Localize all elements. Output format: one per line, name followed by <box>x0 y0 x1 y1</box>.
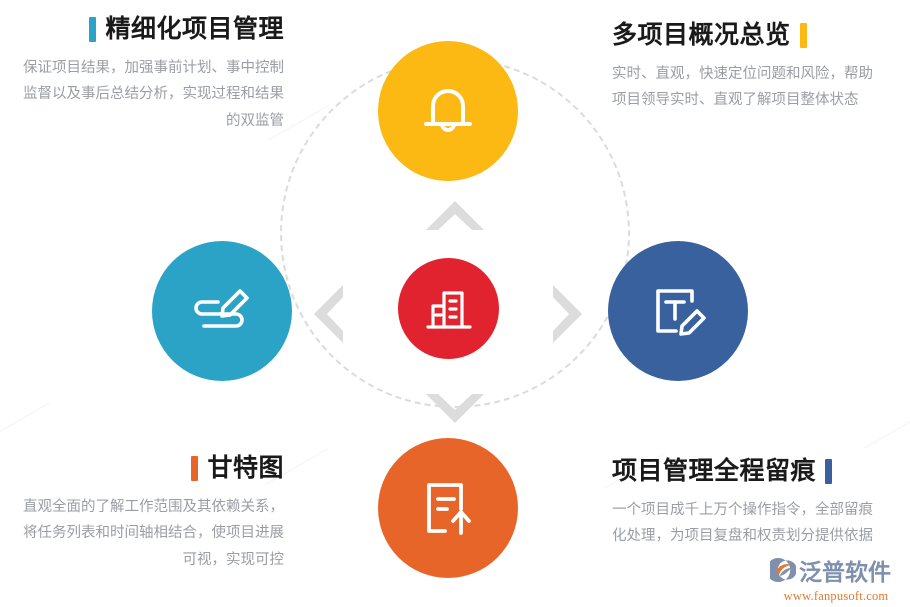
node-left-gantt[interactable] <box>152 241 292 381</box>
chevron-down-icon <box>424 391 486 432</box>
watermark-streak <box>0 403 50 439</box>
node-bottom-report[interactable] <box>378 438 518 578</box>
watermark-url: www.fanpusoft.com <box>770 589 902 604</box>
feature-block-bottom-right: 项目管理全程留痕 一个项目成千上万个操作指令，全部留痕化处理，为项目复盘和权责划… <box>612 458 882 550</box>
feature-description: 保证项目结果，加强事前计划、事中控制监督以及事后总结分析，实现过程和结果的双监管 <box>14 55 284 135</box>
watermark: 泛普软件 www.fanpusoft.com <box>770 558 902 604</box>
node-top-notification[interactable] <box>378 41 518 181</box>
text-document-edit-icon <box>646 279 710 343</box>
feature-block-bottom-left: 甘特图 直观全面的了解工作范围及其依赖关系，将任务列表和时间轴相结合，使项目进展… <box>14 455 284 574</box>
node-center-enterprise[interactable] <box>398 258 499 359</box>
node-right-text-record[interactable] <box>608 241 748 381</box>
watermark-brand-row: 泛普软件 <box>770 558 902 587</box>
feature-description: 实时、直观，快速定位问题和风险，帮助项目领导实时、直观了解项目整体状态 <box>612 61 882 115</box>
chevron-right-icon <box>550 283 586 350</box>
feature-description: 直观全面的了解工作范围及其依赖关系，将任务列表和时间轴相结合，使项目进展可视，实… <box>14 494 284 574</box>
chevron-left-icon <box>310 283 346 350</box>
accent-bar <box>191 456 198 481</box>
feature-title-row: 多项目概况总览 <box>612 22 882 50</box>
page-title: 甘特图 <box>207 455 284 483</box>
feature-block-top-right: 多项目概况总览 实时、直观，快速定位问题和风险，帮助项目领导实时、直观了解项目整… <box>612 22 882 114</box>
feature-description: 一个项目成千上万个操作指令，全部留痕化处理，为项目复盘和权责划分提供依据 <box>612 497 882 551</box>
feature-title-row: 甘特图 <box>14 455 284 483</box>
page-title: 多项目概况总览 <box>612 22 791 50</box>
document-upload-icon <box>417 475 479 541</box>
accent-bar <box>800 23 807 48</box>
infographic-canvas: 精细化项目管理 保证项目结果，加强事前计划、事中控制监督以及事后总结分析，实现过… <box>0 0 910 607</box>
fanpu-logo-icon <box>770 558 796 587</box>
page-title: 项目管理全程留痕 <box>612 458 816 486</box>
feature-title-row: 精细化项目管理 <box>14 16 284 44</box>
accent-bar <box>89 17 96 42</box>
page-title: 精细化项目管理 <box>105 16 284 44</box>
watermark-streak <box>864 413 910 449</box>
feature-block-top-left: 精细化项目管理 保证项目结果，加强事前计划、事中控制监督以及事后总结分析，实现过… <box>14 16 284 135</box>
feature-title-row: 项目管理全程留痕 <box>612 458 882 486</box>
chevron-up-icon <box>424 197 486 238</box>
accent-bar <box>825 459 832 484</box>
watermark-brand-text: 泛普软件 <box>799 561 891 584</box>
gantt-edit-icon <box>188 280 256 342</box>
bell-icon <box>415 78 481 144</box>
building-icon <box>422 282 476 336</box>
